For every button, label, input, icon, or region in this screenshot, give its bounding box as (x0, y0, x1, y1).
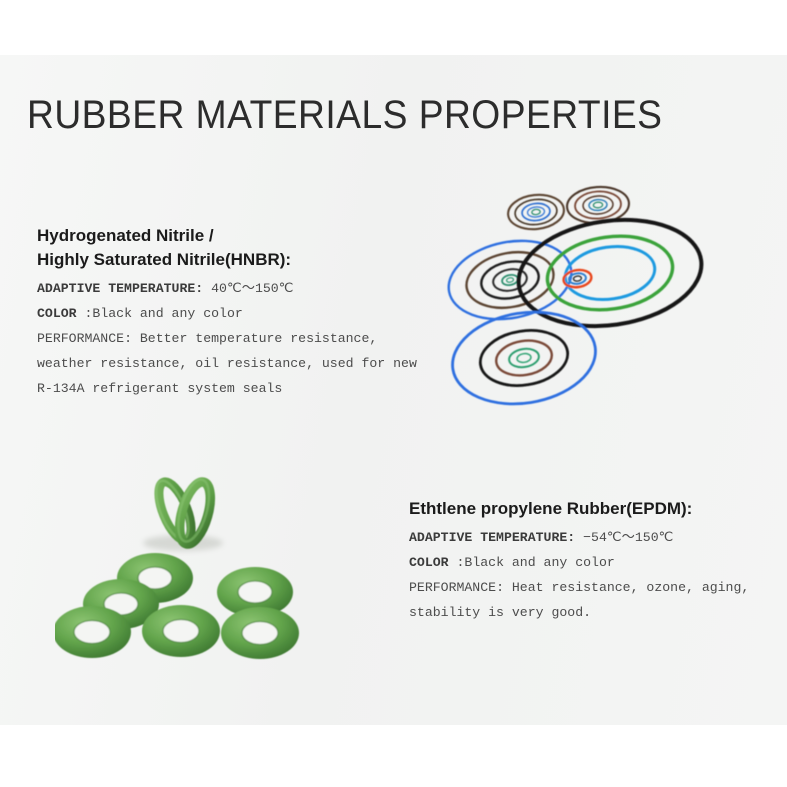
page-title: RUBBER MATERIALS PROPERTIES (27, 93, 662, 138)
green-o-rings-photo (55, 465, 325, 670)
epdm-color-line: COLOR :Black and any color (409, 550, 779, 575)
hnbr-performance-line: PERFORMANCE: Better temperature resistan… (37, 326, 417, 401)
hnbr-temperature-label: ADAPTIVE TEMPERATURE: (37, 281, 203, 296)
hnbr-heading-line2: Highly Saturated Nitrile(HNBR): (37, 248, 417, 272)
material-block-hnbr: Hydrogenated Nitrile / Highly Saturated … (37, 224, 417, 401)
slide-canvas: RUBBER MATERIALS PROPERTIES Hydrogenated… (0, 0, 787, 787)
hnbr-color-line: COLOR :Black and any color (37, 301, 417, 326)
epdm-color-value: :Black and any color (457, 555, 615, 570)
assorted-o-rings-photo (398, 175, 728, 435)
epdm-performance-line: PERFORMANCE: Heat resistance, ozone, agi… (409, 575, 779, 625)
epdm-temperature-line: ADAPTIVE TEMPERATURE: −54℃～150℃ (409, 525, 779, 550)
epdm-temperature-label: ADAPTIVE TEMPERATURE: (409, 530, 575, 545)
material-block-epdm: Ethtlene propylene Rubber(EPDM): ADAPTIV… (409, 497, 779, 625)
epdm-temperature-value: −54℃～150℃ (583, 530, 673, 545)
epdm-heading-line1: Ethtlene propylene Rubber(EPDM): (409, 497, 779, 521)
epdm-color-label: COLOR (409, 555, 449, 570)
epdm-performance-label: PERFORMANCE (409, 580, 496, 595)
hnbr-performance-label: PERFORMANCE (37, 331, 124, 346)
hnbr-color-value: :Black and any color (85, 306, 243, 321)
hnbr-temperature-line: ADAPTIVE TEMPERATURE: 40℃～150℃ (37, 276, 417, 301)
hnbr-heading-line1: Hydrogenated Nitrile / (37, 224, 417, 248)
hnbr-color-label: COLOR (37, 306, 77, 321)
hnbr-temperature-value: 40℃～150℃ (211, 281, 293, 296)
